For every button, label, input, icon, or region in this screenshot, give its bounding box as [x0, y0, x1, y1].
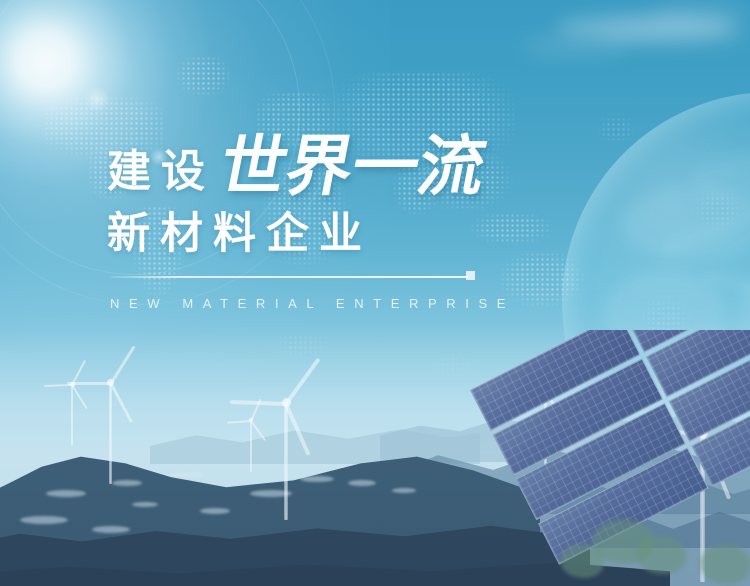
foliage	[636, 536, 686, 574]
foliage	[700, 544, 750, 584]
landscape-scene	[0, 330, 750, 586]
foliage	[560, 544, 604, 578]
divider-end-marker	[466, 271, 475, 280]
hero-banner: 建设 世界一流 新材料企业 NEW MATERIAL ENTERPRISE	[0, 0, 750, 586]
divider-line	[110, 276, 468, 278]
subtitle-text: NEW MATERIAL ENTERPRISE	[110, 296, 515, 311]
